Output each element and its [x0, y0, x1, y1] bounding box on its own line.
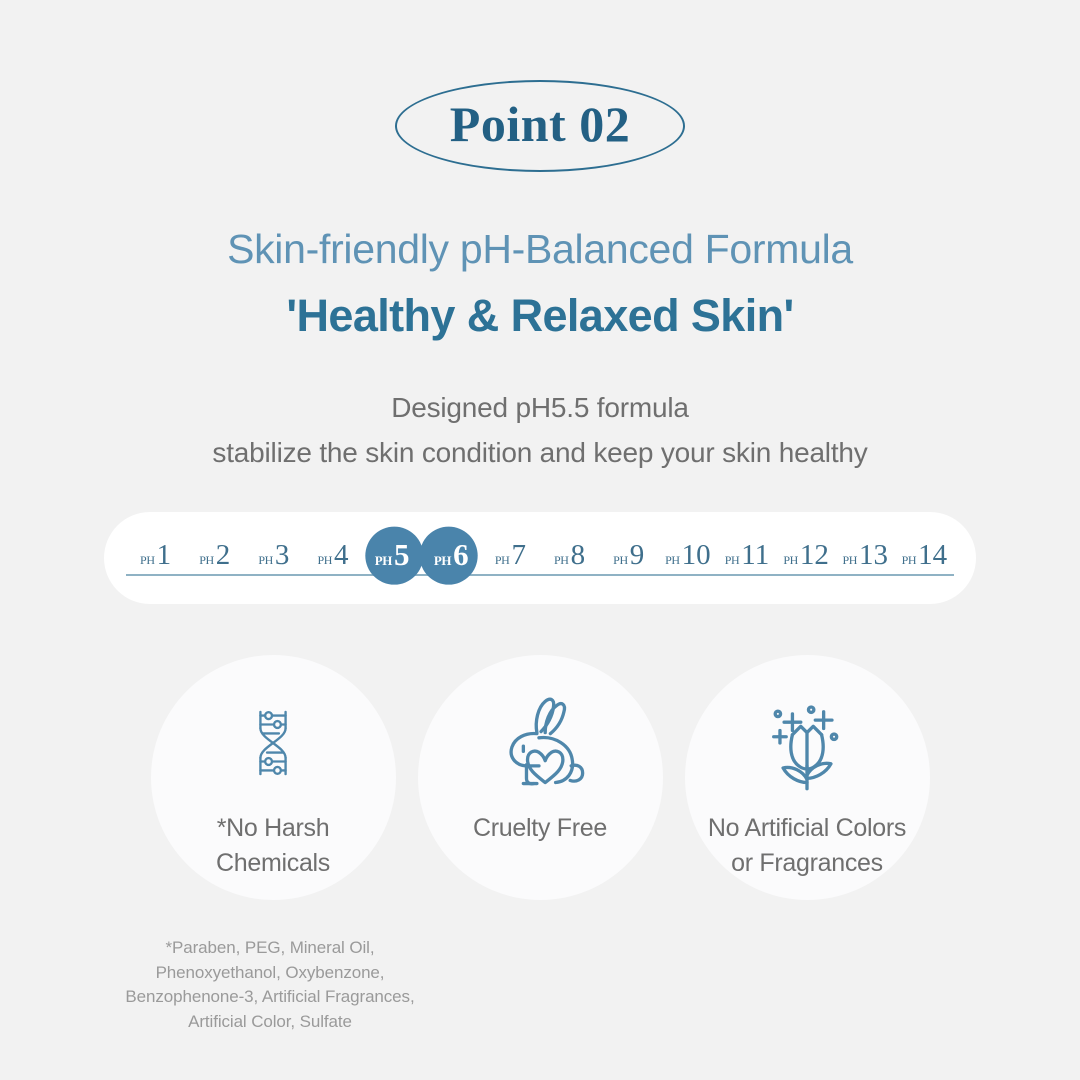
ph-tick-text: pH3: [258, 539, 289, 572]
ph-tick-text: pH5: [375, 537, 410, 573]
ph-tick-prefix: pH: [783, 549, 798, 569]
ph-tick-prefix: pH: [258, 549, 273, 569]
ph-tick-value: 5: [394, 537, 410, 573]
ph-tick-prefix: pH: [902, 549, 917, 569]
ph-tick-6: pH6: [422, 512, 481, 604]
feature-card-3: No Artificial Colorsor Fragrances: [685, 655, 930, 900]
ph-tick-text: pH2: [199, 539, 230, 572]
body-line-2: stabilize the skin condition and keep yo…: [0, 430, 1080, 475]
ph-tick-prefix: pH: [665, 549, 680, 569]
footnote-line-3: Benzophenone-3, Artificial Fragrances,: [60, 985, 480, 1010]
ph-tick-7: pH7: [481, 512, 540, 604]
ph-tick-prefix: pH: [434, 549, 451, 570]
ph-tick-text: pH14: [902, 539, 948, 572]
ph-tick-value: 3: [275, 539, 290, 572]
ph-scale-panel: pH1pH2pH3pH4pH5pH6pH7pH8pH9pH10pH11pH12p…: [104, 512, 976, 604]
ph-tick-value: 1: [157, 539, 172, 572]
ph-tick-11: pH11: [717, 512, 776, 604]
ph-tick-1: pH1: [126, 512, 185, 604]
footnote-line-1: *Paraben, PEG, Mineral Oil,: [60, 936, 480, 961]
feature-label-line: or Fragrances: [692, 846, 922, 881]
body-line-1: Designed pH5.5 formula: [0, 385, 1080, 430]
ph-tick-13: pH13: [836, 512, 895, 604]
ph-tick-prefix: pH: [317, 549, 332, 569]
feature-label-line: Chemicals: [158, 846, 388, 881]
ph-tick-value: 7: [511, 539, 526, 572]
point-badge-label: Point 02: [450, 99, 630, 153]
ph-tick-value: 10: [682, 539, 711, 572]
ph-tick-9: pH9: [599, 512, 658, 604]
ph-tick-text: pH6: [434, 537, 469, 573]
ph-tick-text: pH7: [495, 539, 526, 572]
feature-label: *No HarshChemicals: [158, 811, 388, 880]
ph-tick-prefix: pH: [199, 549, 214, 569]
feature-label: No Artificial Colorsor Fragrances: [692, 811, 922, 880]
promo-page: Point 02 Skin-friendly pH-Balanced Formu…: [0, 0, 1080, 1080]
feature-label: Cruelty Free: [425, 811, 655, 846]
ph-tick-14: pH14: [895, 512, 954, 604]
ph-tick-value: 12: [800, 539, 829, 572]
ph-tick-text: pH9: [613, 539, 644, 572]
feature-list: *No HarshChemicalsCruelty FreeNo Artific…: [0, 655, 1080, 900]
ph-tick-value: 4: [334, 539, 349, 572]
ph-tick-prefix: pH: [725, 549, 740, 569]
feature-label-line: Cruelty Free: [425, 811, 655, 846]
footnote-line-4: Artificial Color, Sulfate: [60, 1010, 480, 1035]
ph-tick-12: pH12: [777, 512, 836, 604]
point-badge-ellipse: Point 02: [395, 80, 685, 172]
ph-tick-2: pH2: [185, 512, 244, 604]
feature-card-1: *No HarshChemicals: [151, 655, 396, 900]
ph-tick-prefix: pH: [842, 549, 857, 569]
ph-tick-4: pH4: [303, 512, 362, 604]
ph-tick-text: pH4: [317, 539, 348, 572]
ph-tick-text: pH8: [554, 539, 585, 572]
ph-tick-prefix: pH: [375, 549, 392, 570]
dna-helix-icon: [236, 683, 310, 803]
ph-tick-prefix: pH: [140, 549, 155, 569]
ph-scale-inner: pH1pH2pH3pH4pH5pH6pH7pH8pH9pH10pH11pH12p…: [126, 512, 954, 604]
ph-tick-value: 8: [571, 539, 586, 572]
ph-tick-value: 13: [859, 539, 888, 572]
feature-label-line: *No Harsh: [158, 811, 388, 846]
point-badge-wrap: Point 02: [0, 80, 1080, 172]
feature-card-2: Cruelty Free: [418, 655, 663, 900]
ph-tick-5: pH5: [363, 512, 422, 604]
footnote: *Paraben, PEG, Mineral Oil, Phenoxyethan…: [60, 936, 480, 1035]
ph-tick-text: pH11: [725, 539, 769, 572]
feature-label-line: No Artificial Colors: [692, 811, 922, 846]
heading-block: Skin-friendly pH-Balanced Formula 'Healt…: [0, 225, 1080, 343]
ph-tick-value: 6: [453, 537, 469, 573]
ph-tick-8: pH8: [540, 512, 599, 604]
rabbit-heart-icon: [488, 683, 592, 803]
ph-tick-prefix: pH: [554, 549, 569, 569]
subheading: Skin-friendly pH-Balanced Formula: [0, 225, 1080, 274]
ph-tick-value: 2: [216, 539, 231, 572]
ph-tick-3: pH3: [244, 512, 303, 604]
ph-tick-10: pH10: [658, 512, 717, 604]
ph-tick-list: pH1pH2pH3pH4pH5pH6pH7pH8pH9pH10pH11pH12p…: [126, 512, 954, 604]
ph-tick-prefix: pH: [613, 549, 628, 569]
footnote-line-2: Phenoxyethanol, Oxybenzone,: [60, 961, 480, 986]
ph-tick-value: 14: [918, 539, 947, 572]
tulip-sparkle-icon: [755, 683, 859, 803]
ph-tick-prefix: pH: [495, 549, 510, 569]
page-title: 'Healthy & Relaxed Skin': [0, 289, 1080, 343]
ph-tick-text: pH10: [665, 539, 711, 572]
ph-tick-text: pH1: [140, 539, 171, 572]
body-copy: Designed pH5.5 formula stabilize the ski…: [0, 385, 1080, 476]
ph-tick-text: pH13: [842, 539, 888, 572]
ph-tick-value: 9: [630, 539, 645, 572]
ph-tick-value: 11: [741, 539, 769, 572]
ph-tick-text: pH12: [783, 539, 829, 572]
